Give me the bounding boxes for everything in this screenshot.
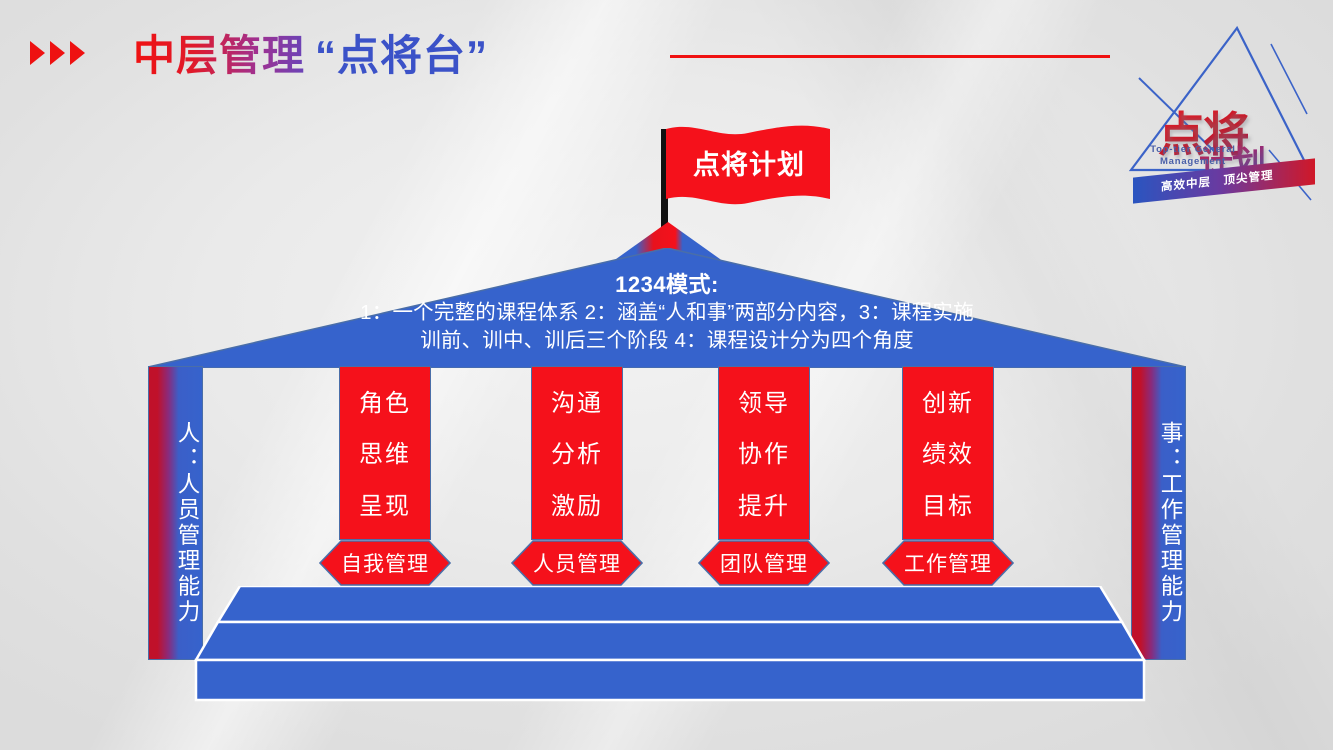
roof-heading: 1234模式: [255, 270, 1079, 299]
pillar-word: 协作 [738, 434, 790, 469]
pillar-column: 领导 协作 提升 [718, 366, 810, 540]
base-step-top [218, 586, 1122, 622]
pillar-base-label: 自我管理 [319, 540, 451, 586]
title-divider-rule [670, 55, 1110, 58]
brand-logo: 点将 计划 Top-tier General Management 高效中层 顶… [1121, 18, 1317, 208]
pillar-word: 分析 [551, 434, 603, 469]
pillar-word: 沟通 [551, 383, 603, 418]
pillar-word: 绩效 [922, 434, 974, 469]
pillar-word: 提升 [738, 486, 790, 521]
pillar-word: 目标 [922, 486, 974, 521]
page-title-primary: 中层管理 [133, 32, 305, 79]
pillar-column: 角色 思维 呈现 [339, 366, 431, 540]
chevron-right-icon [70, 41, 85, 65]
chevron-right-icon [50, 41, 65, 65]
pillar-word: 角色 [359, 383, 411, 418]
pillar-column: 沟通 分析 激励 [531, 366, 623, 540]
pillar-word: 创新 [922, 383, 974, 418]
flag-label: 点将计划 [674, 143, 824, 182]
base-step-middle [196, 622, 1144, 660]
chevron-right-icon [30, 41, 45, 65]
pillar-column: 创新 绩效 目标 [902, 366, 994, 540]
slide-canvas: 中层管理“点将台” 点将 计划 Top-tier General Managem… [0, 0, 1333, 750]
page-title-secondary: “点将台” [315, 32, 488, 79]
pillar-base-label: 团队管理 [698, 540, 830, 586]
base-step-bottom [196, 660, 1144, 700]
roof-text-block: 1234模式: 1：一个完整的课程体系 2：涵盖“人和事”两部分内容，3：课程实… [255, 270, 1079, 354]
page-title: 中层管理“点将台” [133, 30, 488, 83]
pillar-word: 思维 [359, 434, 411, 469]
pillar-word: 激励 [551, 486, 603, 521]
pillar-base-label: 人员管理 [511, 540, 643, 586]
pillar-base-label: 工作管理 [882, 540, 1014, 586]
stepped-base [190, 586, 1150, 702]
pillar-word: 呈现 [359, 486, 411, 521]
chevron-arrows [30, 41, 85, 65]
pillar-word: 领导 [738, 383, 790, 418]
roof-line-2: 训前、训中、训后三个阶段 4：课程设计分为四个角度 [255, 327, 1079, 354]
roof-line-1: 1：一个完整的课程体系 2：涵盖“人和事”两部分内容，3：课程实施 [255, 299, 1079, 326]
logo-english-tagline: Top-tier General Management [1133, 144, 1253, 168]
